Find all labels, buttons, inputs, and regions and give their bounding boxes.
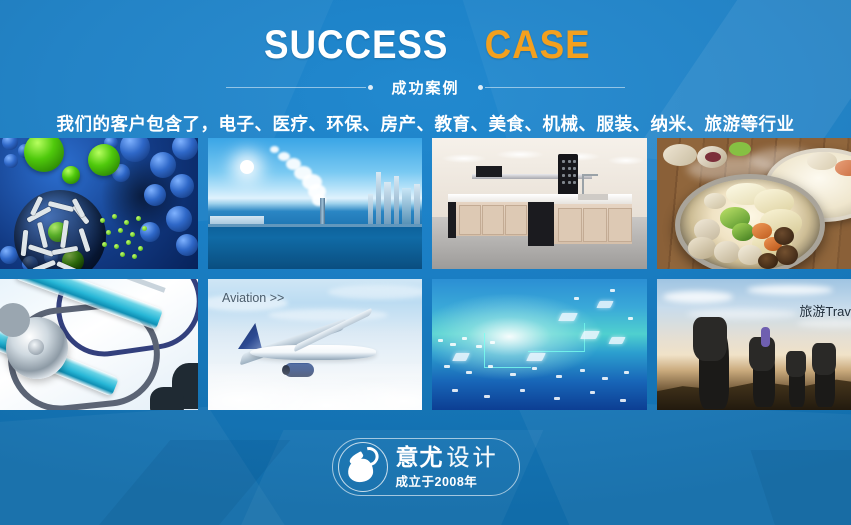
travel-caption: 旅游Travel <box>799 301 851 320</box>
airplane-tail-fin <box>238 323 262 349</box>
logo-brand-strong: 意尤 <box>396 446 444 469</box>
water-surface <box>208 224 422 269</box>
gallery-item-travel[interactable]: 旅游Travel <box>657 279 851 410</box>
case-gallery-grid: Aviation >> <box>0 138 851 410</box>
subtitle-chinese: 成功案例 <box>375 77 475 98</box>
logo-brand-row: 意尤 设计 <box>396 446 499 469</box>
divider-line-right <box>485 87 625 88</box>
laboratory-bench-photo <box>432 138 647 269</box>
page-title: SUCCESS CASE <box>0 0 851 65</box>
logo-brand-thin: 设计 <box>447 446 499 469</box>
faucet <box>582 174 584 196</box>
sun-glow <box>240 160 254 174</box>
industries-text: 我们的客户包含了，电子、医疗、环保、房产、教育、美食、机械、服装、纳米、旅游等行… <box>0 111 851 136</box>
banner-header: SUCCESS CASE 成功案例 我们的客户包含了，电子、医疗、环保、房产、教… <box>0 0 851 135</box>
gallery-item-electronics[interactable] <box>432 279 647 410</box>
logo-text-block: 意尤 设计 成立于2008年 <box>396 446 499 489</box>
divider-line-left <box>226 87 366 88</box>
success-case-banner: SUCCESS CASE 成功案例 我们的客户包含了，电子、医疗、环保、房产、教… <box>0 0 851 525</box>
nano-technology-photo <box>0 138 198 269</box>
green-particle-cluster <box>98 214 150 258</box>
gallery-item-food[interactable] <box>657 138 851 269</box>
brand-logo[interactable]: 意尤 设计 成立于2008年 <box>332 438 520 496</box>
title-accent-word: CASE <box>484 25 590 65</box>
travel-hikers-photo: 旅游Travel <box>657 279 851 410</box>
gallery-item-nano[interactable] <box>0 138 198 269</box>
environment-plant-photo <box>208 138 422 269</box>
medical-stethoscope-photo <box>0 279 198 410</box>
electronics-circuit-photo <box>432 279 647 410</box>
logo-established-text: 成立于2008年 <box>396 476 499 489</box>
food-hotpot-photo <box>657 138 851 269</box>
divider-dot-left <box>368 85 373 90</box>
hot-pot <box>675 174 825 269</box>
aviation-caption: Aviation >> <box>222 291 284 305</box>
bird-icon <box>346 458 373 483</box>
title-main-word: SUCCESS <box>264 25 448 65</box>
logo-emblem-icon <box>338 442 388 492</box>
subtitle-divider: 成功案例 <box>0 77 851 98</box>
gallery-item-aviation[interactable]: Aviation >> <box>208 279 422 410</box>
airplane-fuselage <box>250 345 376 360</box>
gallery-item-medical[interactable] <box>0 279 198 410</box>
sink-basin <box>578 194 608 200</box>
aviation-airplane-photo: Aviation >> <box>208 279 422 410</box>
gallery-item-environment[interactable] <box>208 138 422 269</box>
divider-dot-right <box>478 85 483 90</box>
cloud-layer <box>208 364 422 410</box>
gallery-item-laboratory[interactable] <box>432 138 647 269</box>
